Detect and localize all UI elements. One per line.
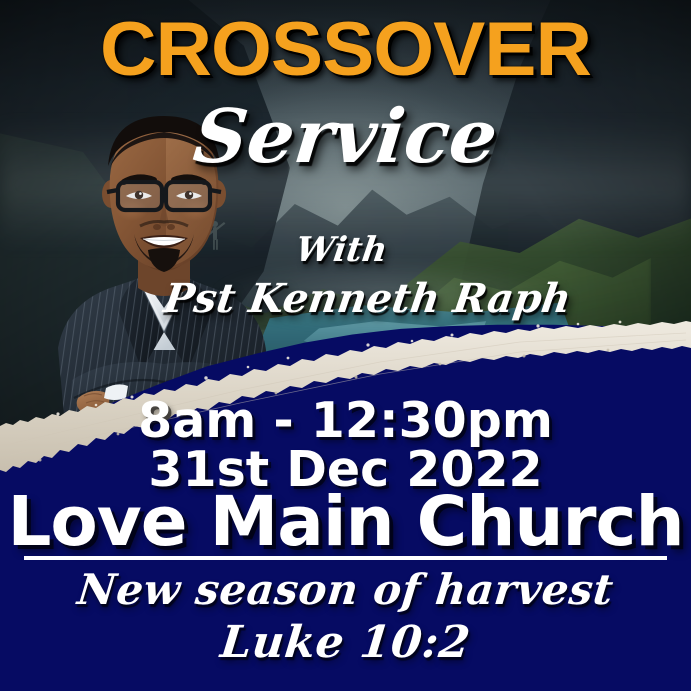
scripture-reference: Luke 10:2 bbox=[0, 617, 691, 668]
event-time: 8am - 12:30pm bbox=[0, 396, 691, 445]
with-label: With bbox=[0, 230, 691, 270]
venue-name: Love Main Church bbox=[0, 488, 691, 557]
headline-crossover: CROSSOVER bbox=[0, 14, 691, 86]
tagline-text: New season of harvest bbox=[0, 565, 691, 614]
subhead-service: Service bbox=[0, 100, 691, 174]
venue-underline-rule bbox=[24, 556, 667, 560]
crossover-service-flyer: CROSSOVER Service bbox=[0, 0, 691, 691]
speaker-name: Pst Kenneth Raph bbox=[0, 275, 691, 322]
